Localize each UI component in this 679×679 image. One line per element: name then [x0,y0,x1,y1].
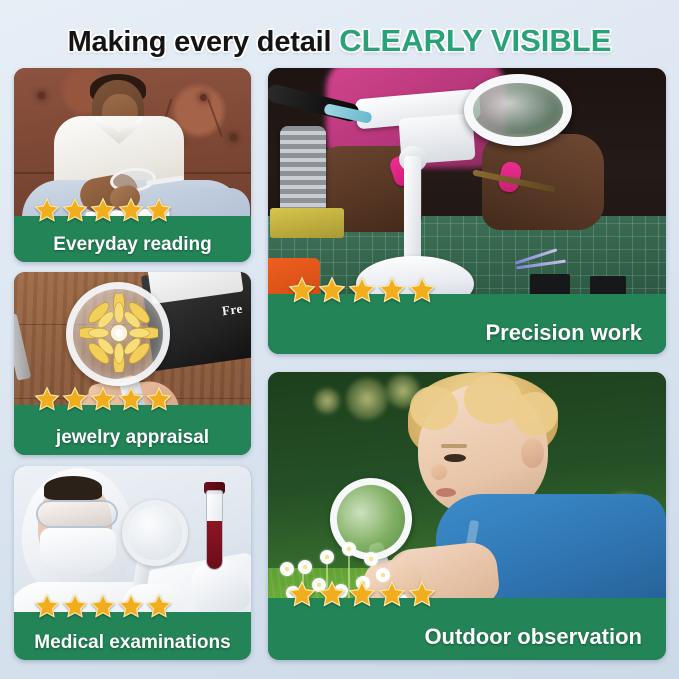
daisy-flower [364,552,378,566]
card-label: Outdoor observation [424,624,642,650]
star-icon [348,580,376,608]
daisy-flower [320,550,334,564]
box-text: Fre [221,301,244,320]
technician-hair [44,476,102,500]
gold-flower-brooch [80,294,158,372]
daisy-flower [342,542,356,556]
card-everyday-reading[interactable]: Everyday reading [14,68,251,262]
daisy-flower [298,560,312,574]
star-icon [118,386,144,412]
star-icon [378,276,406,304]
star-icon [408,580,436,608]
sofa-tuft [230,134,237,141]
rating-stars [288,580,436,608]
star-icon [146,386,172,412]
bokeh-light [314,388,340,414]
electronic-component [590,276,626,296]
star-icon [62,197,88,223]
rating-stars [34,197,172,223]
card-label: Everyday reading [53,234,211,256]
card-label-band: Medical examinations [14,612,251,660]
magnifier-post [404,156,421,268]
star-icon [62,386,88,412]
toddler-nose [431,464,447,480]
card-label-band: jewelry appraisal [14,405,251,455]
star-icon [62,593,88,619]
magnifier-lens [464,74,572,146]
solder-coil [280,126,326,216]
blood-sample [207,521,222,569]
page-title-dark: Making every detail [68,26,332,58]
card-outdoor-observation[interactable]: Outdoor observation [268,372,666,660]
safety-goggles [36,500,118,528]
star-icon [90,593,116,619]
face-mask [40,528,116,574]
rating-stars [34,386,172,412]
toddler-mouth [436,488,456,497]
star-icon [90,197,116,223]
star-icon [288,276,316,304]
card-label: Precision work [485,320,642,346]
sofa-tuft [200,94,207,101]
daisy-flower [280,562,294,576]
bokeh-light [346,378,388,420]
toddler-hair-lock [512,392,558,436]
toddler-hair-lock [410,386,458,430]
sofa-tuft [38,92,45,99]
page-title: Making every detail CLEARLY VISIBLE [0,23,679,59]
star-icon [318,580,346,608]
star-icon [146,197,172,223]
star-icon [34,593,60,619]
card-jewelry-appraisal[interactable]: Fre [14,272,251,455]
toddler-eye [444,454,466,462]
star-icon [34,386,60,412]
star-icon [34,197,60,223]
rating-stars [288,276,436,304]
toddler-eyebrow [441,444,467,448]
page-title-green: CLEARLY VISIBLE [339,23,611,58]
star-icon [90,386,116,412]
card-medical-examinations[interactable]: Medical examinations [14,466,251,660]
card-precision-work[interactable]: Precision work [268,68,666,354]
star-icon [146,593,172,619]
toddler-ear [521,438,544,468]
rating-stars [34,593,172,619]
card-label: Medical examinations [34,632,230,654]
star-icon [288,580,316,608]
star-icon [318,276,346,304]
star-icon [408,276,436,304]
solder-sponge [270,208,344,238]
card-label: jewelry appraisal [56,427,209,449]
star-icon [378,580,406,608]
star-icon [118,197,144,223]
blood-sample-tube [206,490,223,570]
star-icon [348,276,376,304]
star-icon [118,593,144,619]
